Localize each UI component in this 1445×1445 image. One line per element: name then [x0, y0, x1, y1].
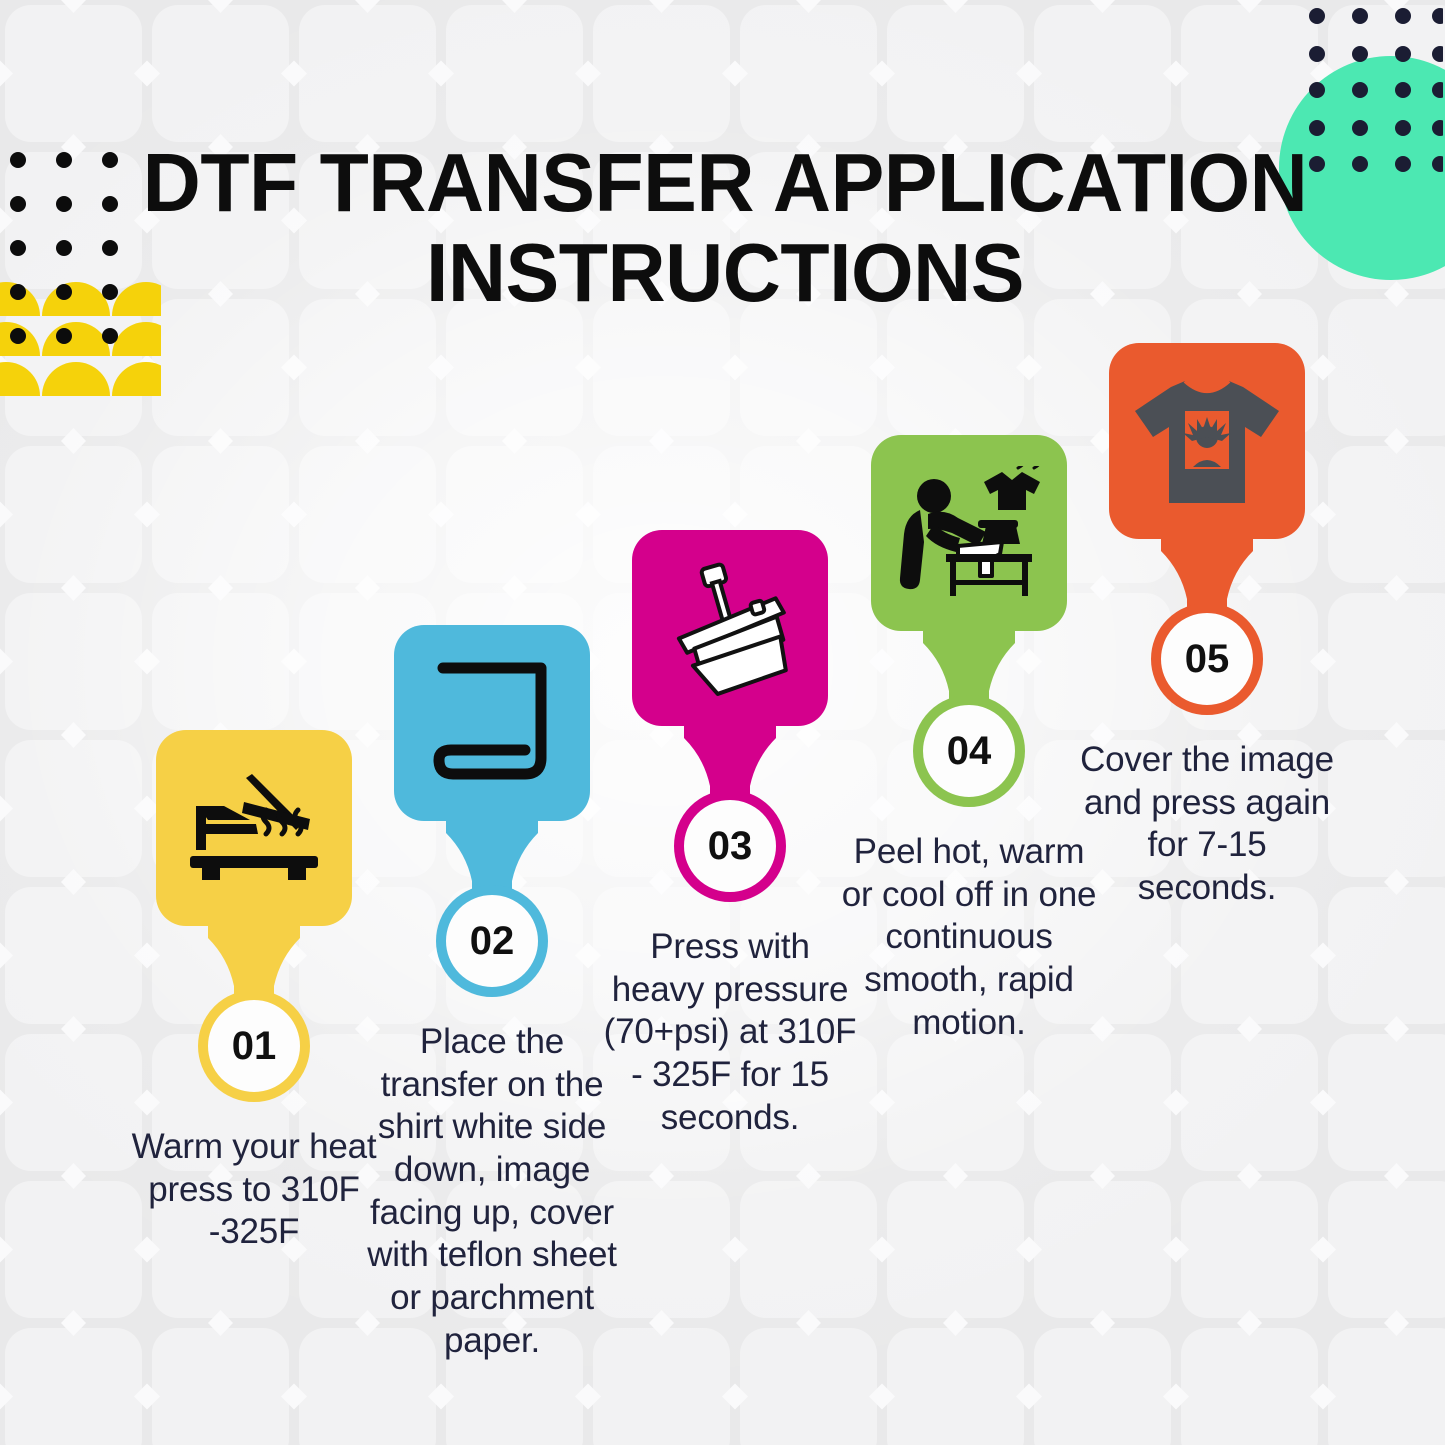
step-01-badge: 01 [144, 730, 364, 1102]
heat-press-machine-icon [660, 558, 800, 698]
step-05-number-circle: 05 [1151, 603, 1263, 715]
step-02-number: 02 [470, 921, 515, 961]
step-03: 03 Press with heavy pressure (70+psi) at… [601, 530, 859, 1139]
step-05-description: Cover the image and press again for 7-15… [1078, 739, 1336, 910]
step-02: 02 Place the transfer on the shirt white… [363, 625, 621, 1363]
step-05-card[interactable] [1109, 343, 1305, 539]
step-04-number: 04 [947, 731, 992, 771]
step-01-number-circle: 01 [198, 990, 310, 1102]
step-03-number-circle: 03 [674, 790, 786, 902]
step-04-description: Peel hot, warm or cool off in one contin… [840, 831, 1098, 1044]
step-05: 05 Cover the image and press again for 7… [1078, 343, 1336, 910]
step-02-description: Place the transfer on the shirt white si… [363, 1021, 621, 1363]
step-03-number: 03 [708, 826, 753, 866]
person-pressing-shirt-icon [894, 466, 1044, 600]
transfer-sheet-icon [433, 662, 551, 784]
step-02-card[interactable] [394, 625, 590, 821]
step-03-badge: 03 [620, 530, 840, 902]
step-02-badge: 02 [382, 625, 602, 997]
step-01-number: 01 [232, 1026, 277, 1066]
heat-press-open-icon [186, 772, 322, 884]
step-01-card[interactable] [156, 730, 352, 926]
title-line-2: INSTRUCTIONS [138, 228, 1312, 318]
page-title: DTF TRANSFER APPLICATION INSTRUCTIONS [138, 138, 1312, 317]
step-01-description: Warm your heat press to 310F -325F [125, 1126, 383, 1254]
step-05-number: 05 [1185, 639, 1230, 679]
infographic-poster: DTF TRANSFER APPLICATION INSTRUCTIONS [0, 0, 1445, 1445]
step-03-description: Press with heavy pressure (70+psi) at 31… [601, 926, 859, 1139]
step-02-number-circle: 02 [436, 885, 548, 997]
step-01: 01 Warm your heat press to 310F -325F [125, 730, 383, 1254]
step-04-number-circle: 04 [913, 695, 1025, 807]
step-04-card[interactable] [871, 435, 1067, 631]
step-03-card[interactable] [632, 530, 828, 726]
title-line-1: DTF TRANSFER APPLICATION [138, 138, 1312, 228]
printed-tshirt-icon [1131, 375, 1283, 507]
step-05-badge: 05 [1097, 343, 1317, 715]
step-04: 04 Peel hot, warm or cool off in one con… [840, 435, 1098, 1044]
step-04-badge: 04 [859, 435, 1079, 807]
